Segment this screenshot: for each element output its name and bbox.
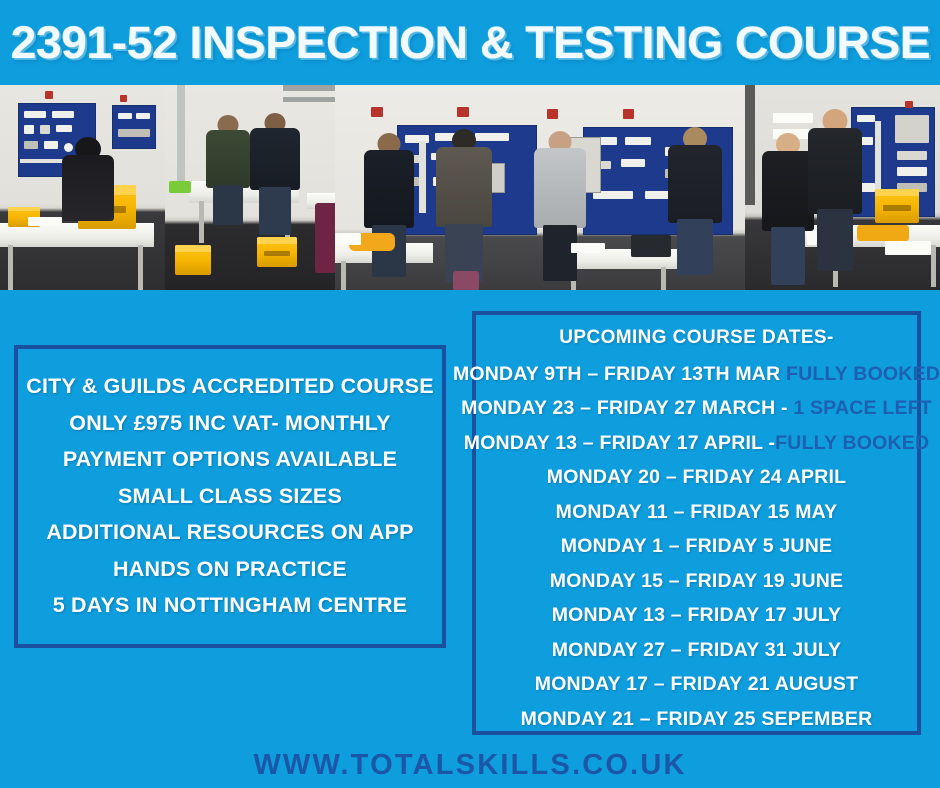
date-text: MONDAY 17 – FRIDAY 21 AUGUST bbox=[535, 673, 858, 695]
date-row: MONDAY 11 – FRIDAY 15 MAY bbox=[556, 503, 838, 523]
course-info-box: CITY & GUILDS ACCREDITED COURSE ONLY £97… bbox=[14, 345, 446, 648]
person bbox=[60, 137, 116, 232]
date-row: MONDAY 15 – FRIDAY 19 JUNE bbox=[550, 572, 844, 592]
date-text: MONDAY 13 – FRIDAY 17 JULY bbox=[552, 604, 842, 626]
date-text: MONDAY 15 – FRIDAY 19 JUNE bbox=[550, 570, 844, 592]
date-row: MONDAY 17 – FRIDAY 21 AUGUST bbox=[535, 675, 858, 695]
date-text: MONDAY 11 – FRIDAY 15 MAY bbox=[556, 501, 838, 523]
info-line: HANDS ON PRACTICE bbox=[113, 559, 347, 581]
date-text: MONDAY 27 – FRIDAY 31 JULY bbox=[552, 639, 842, 661]
status-badge: FULLY BOOKED bbox=[786, 363, 940, 385]
status-badge: 1 SPACE LEFT bbox=[793, 397, 932, 419]
photo-strip bbox=[0, 85, 940, 290]
date-text: MONDAY 23 – FRIDAY 27 MARCH - bbox=[461, 397, 793, 419]
website-url[interactable]: WWW.TOTALSKILLS.CO.UK bbox=[253, 749, 686, 782]
info-line: CITY & GUILDS ACCREDITED COURSE bbox=[26, 376, 434, 398]
upcoming-dates-box: UPCOMING COURSE DATES- MONDAY 9TH – FRID… bbox=[472, 311, 921, 735]
date-text: MONDAY 20 – FRIDAY 24 APRIL bbox=[547, 466, 846, 488]
status-badge: FULLY BOOKED bbox=[775, 432, 929, 454]
date-text: MONDAY 13 – FRIDAY 17 APRIL - bbox=[464, 432, 775, 454]
date-text: MONDAY 21 – FRIDAY 25 SEPEMBER bbox=[521, 708, 873, 730]
info-line: ADDITIONAL RESOURCES ON APP bbox=[46, 522, 413, 544]
date-text: MONDAY 1 – FRIDAY 5 JUNE bbox=[561, 535, 832, 557]
page-title: 2391-52 INSPECTION & TESTING COURSE bbox=[10, 17, 930, 69]
title-bar: 2391-52 INSPECTION & TESTING COURSE bbox=[0, 0, 940, 85]
date-row: MONDAY 9TH – FRIDAY 13TH MAR FULLY BOOKE… bbox=[453, 365, 940, 385]
photo-two-trainees bbox=[165, 85, 335, 290]
info-line: SMALL CLASS SIZES bbox=[118, 486, 342, 508]
date-row: MONDAY 1 – FRIDAY 5 JUNE bbox=[561, 537, 832, 557]
dates-heading: UPCOMING COURSE DATES- bbox=[559, 327, 833, 349]
date-row: MONDAY 13 – FRIDAY 17 JULY bbox=[552, 606, 842, 626]
photo-four-trainees-boards bbox=[335, 85, 745, 290]
photo-trainee-bench bbox=[0, 85, 165, 290]
date-row: MONDAY 21 – FRIDAY 25 SEPEMBER bbox=[521, 710, 873, 730]
date-text: MONDAY 9TH – FRIDAY 13TH MAR bbox=[453, 363, 786, 385]
date-row: MONDAY 27 – FRIDAY 31 JULY bbox=[552, 641, 842, 661]
info-line: 5 DAYS IN NOTTINGHAM CENTRE bbox=[53, 595, 408, 617]
date-row: MONDAY 23 – FRIDAY 27 MARCH - 1 SPACE LE… bbox=[461, 399, 932, 419]
info-line: PAYMENT OPTIONS AVAILABLE bbox=[63, 449, 397, 471]
info-line: ONLY £975 INC VAT- MONTHLY bbox=[69, 413, 390, 435]
footer: WWW.TOTALSKILLS.CO.UK bbox=[0, 742, 940, 788]
poster-root: 2391-52 INSPECTION & TESTING COURSE bbox=[0, 0, 940, 788]
photo-instructor-demo bbox=[745, 85, 940, 290]
date-row: MONDAY 13 – FRIDAY 17 APRIL -FULLY BOOKE… bbox=[464, 434, 930, 454]
date-row: MONDAY 20 – FRIDAY 24 APRIL bbox=[547, 468, 846, 488]
